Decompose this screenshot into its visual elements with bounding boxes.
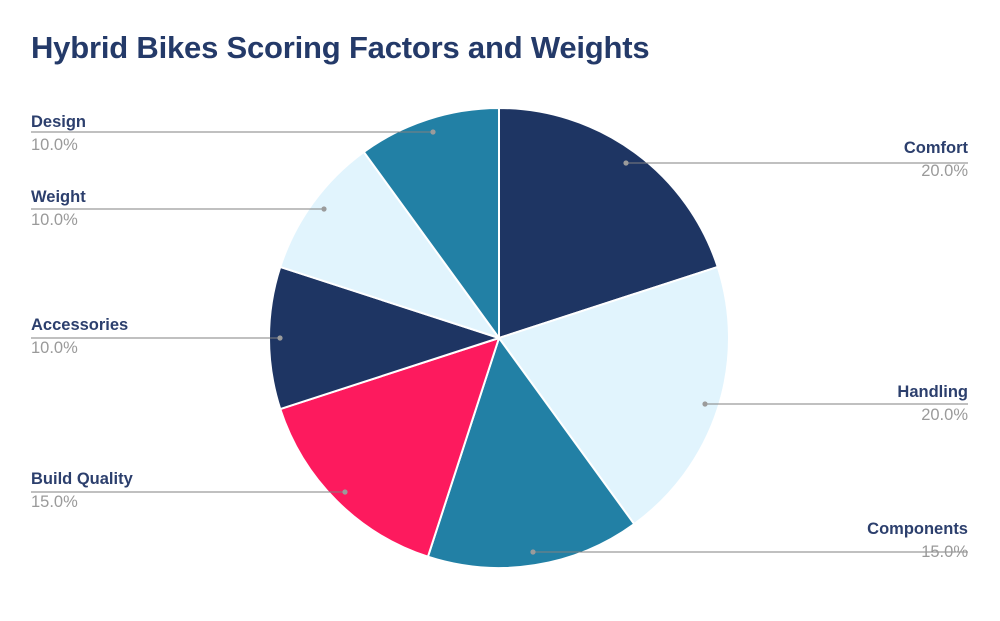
leader-dot [342, 489, 347, 494]
pie-label-value: 15.0% [31, 488, 133, 512]
pie-slice-group [269, 108, 729, 568]
pie-label-name: Handling [897, 383, 968, 401]
leader-dot [530, 549, 535, 554]
chart-canvas: Hybrid Bikes Scoring Factors and Weights… [0, 0, 1000, 621]
pie-label-value: 10.0% [31, 206, 86, 230]
pie-label-value: 10.0% [31, 131, 86, 155]
pie-label-name: Design [31, 113, 86, 131]
pie-label[interactable]: Weight10.0% [31, 188, 86, 230]
pie-label[interactable]: Comfort20.0% [904, 139, 968, 181]
pie-label-value: 20.0% [904, 157, 968, 181]
pie-label[interactable]: Build Quality15.0% [31, 470, 133, 512]
pie-label-name: Build Quality [31, 470, 133, 488]
leader-dot [623, 160, 628, 165]
pie-label-value: 15.0% [867, 538, 968, 562]
pie-label-name: Accessories [31, 316, 128, 334]
pie-label-name: Weight [31, 188, 86, 206]
pie-label-value: 20.0% [897, 401, 968, 425]
leader-dot [702, 401, 707, 406]
pie-label[interactable]: Components15.0% [867, 520, 968, 562]
pie-label-name: Comfort [904, 139, 968, 157]
pie-label-value: 10.0% [31, 334, 128, 358]
pie-label-name: Components [867, 520, 968, 538]
leader-dot [277, 335, 282, 340]
pie-label[interactable]: Accessories10.0% [31, 316, 128, 358]
pie-chart [0, 0, 1000, 621]
pie-label[interactable]: Design10.0% [31, 113, 86, 155]
leader-dot [430, 129, 435, 134]
leader-dot [321, 206, 326, 211]
pie-label[interactable]: Handling20.0% [897, 383, 968, 425]
